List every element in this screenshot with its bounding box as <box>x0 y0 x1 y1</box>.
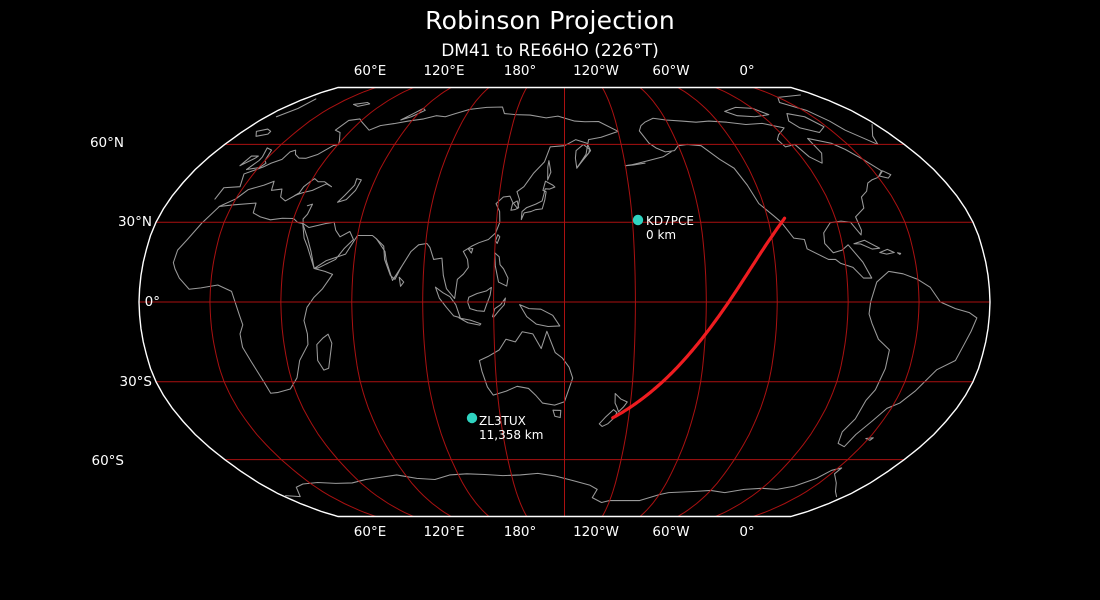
marker-callsign-kd7pce: KD7PCE <box>646 214 694 228</box>
lon-tick-top-4: 60°W <box>652 63 689 79</box>
map-figure: Robinson Projection DM41 to RE66HO (226°… <box>0 0 1100 600</box>
lon-tick-bottom-1: 120°E <box>423 524 464 540</box>
lat-tick-30s: 30°S <box>120 374 153 390</box>
great-circle-path <box>613 218 785 418</box>
lon-tick-top-0: 60°E <box>354 63 386 79</box>
lon-tick-bottom-3: 120°W <box>573 524 619 540</box>
lon-tick-top-2: 180° <box>504 63 537 79</box>
lon-tick-bottom-0: 60°E <box>354 524 386 540</box>
marker-distance-zl3tux: 11,358 km <box>479 428 543 442</box>
marker-callsign-zl3tux: ZL3TUX <box>479 414 543 428</box>
marker-label-zl3tux: ZL3TUX 11,358 km <box>479 414 543 442</box>
marker-label-kd7pce: KD7PCE 0 km <box>646 214 694 242</box>
lat-tick-60n: 60°N <box>90 135 124 151</box>
coastline-layer <box>173 95 977 503</box>
marker-distance-kd7pce: 0 km <box>646 228 694 242</box>
lat-tick-60s: 60°S <box>92 453 125 469</box>
lon-tick-bottom-5: 0° <box>739 524 754 540</box>
station-marker-zl3tux[interactable] <box>467 413 477 423</box>
station-marker-kd7pce[interactable] <box>633 215 643 225</box>
lon-tick-top-1: 120°E <box>423 63 464 79</box>
lon-tick-bottom-2: 180° <box>504 524 537 540</box>
graticule-layer <box>139 88 990 517</box>
lon-tick-top-3: 120°W <box>573 63 619 79</box>
lon-tick-bottom-4: 60°W <box>652 524 689 540</box>
lon-tick-top-5: 0° <box>739 63 754 79</box>
lat-tick-30n: 30°N <box>118 214 152 230</box>
lat-tick-0: 0° <box>145 294 160 310</box>
robinson-map-canvas <box>0 0 1100 600</box>
